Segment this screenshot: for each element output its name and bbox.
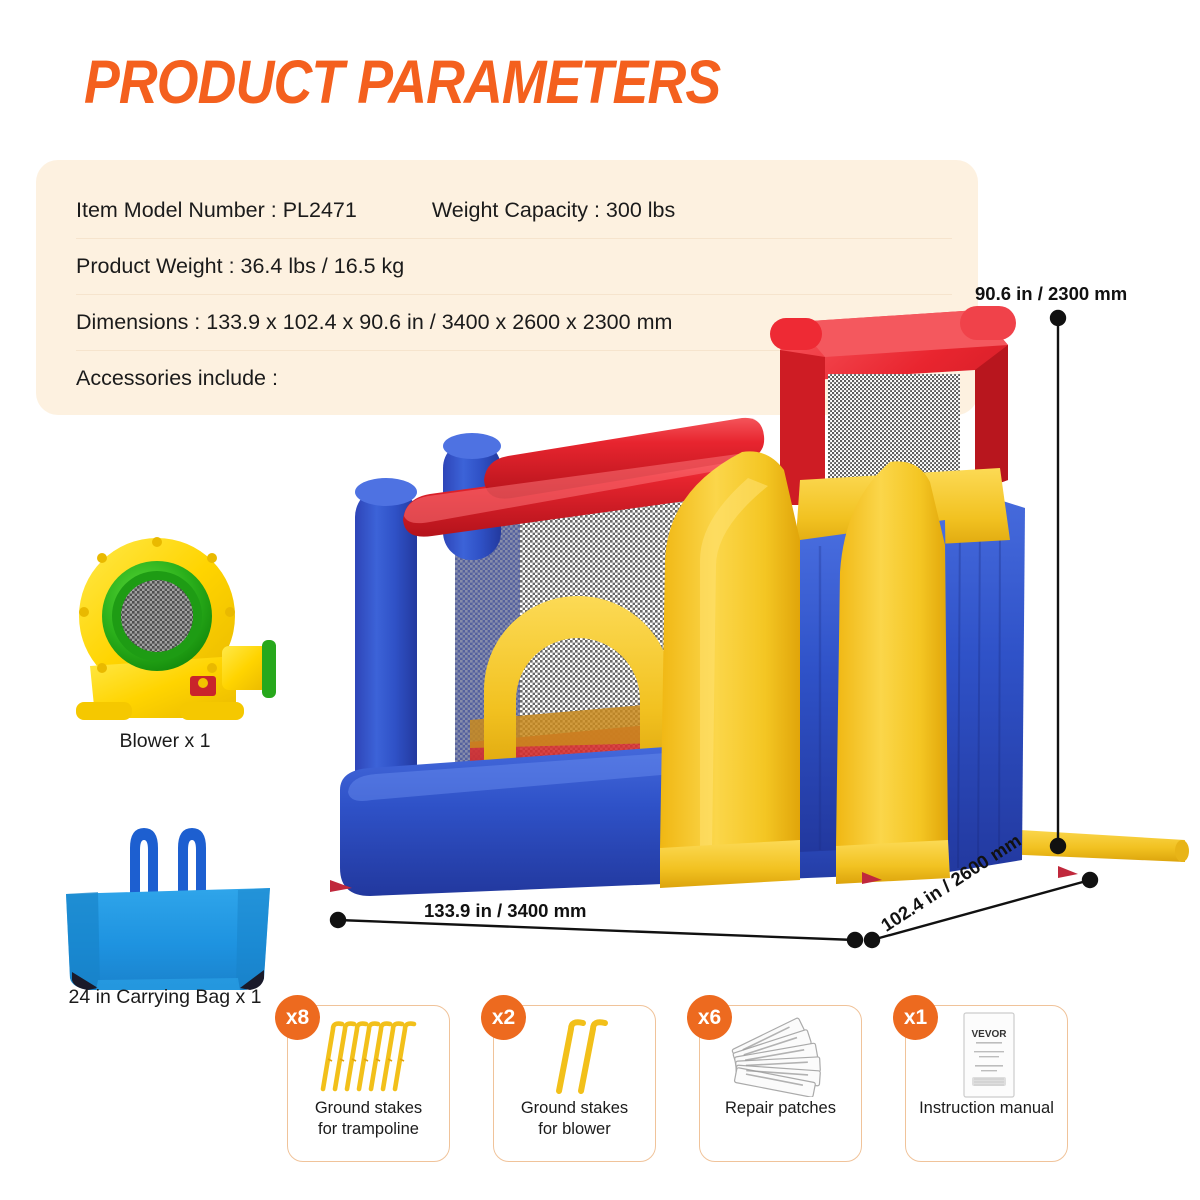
count-badge: x6 <box>687 995 732 1040</box>
manual-brand-text: VEVOR <box>971 1029 1007 1040</box>
accessory-caption-line1: Ground stakes <box>521 1098 628 1119</box>
accessories-include-text: Accessories include : <box>76 366 278 391</box>
spec-row: Product Weight : 36.4 lbs / 16.5 kg <box>76 238 952 294</box>
spec-panel: Item Model Number : PL2471 Weight Capaci… <box>36 160 978 415</box>
dimension-height-label: 90.6 in / 2300 mm <box>975 283 1127 305</box>
dimensions-text: Dimensions : 133.9 x 102.4 x 90.6 in / 3… <box>76 310 672 335</box>
accessory-caption-line1: Instruction manual <box>919 1098 1054 1119</box>
dimension-width-label: 133.9 in / 3400 mm <box>424 900 587 922</box>
accessory-card-list: x8 Ground stakes for trampoline <box>287 1005 1127 1165</box>
dimension-depth-label: 102.4 in / 2600 mm <box>877 829 1025 936</box>
accessory-card[interactable]: x8 Ground stakes for trampoline <box>287 1005 450 1162</box>
product-weight-text: Product Weight : 36.4 lbs / 16.5 kg <box>76 254 404 279</box>
accessory-caption-line1: Repair patches <box>725 1098 836 1119</box>
accessory-caption-line2: for trampoline <box>315 1119 422 1140</box>
accessory-caption: Repair patches <box>721 1098 840 1119</box>
accessory-caption: Ground stakes for trampoline <box>311 1098 426 1140</box>
blower-item: Blower x 1 <box>40 528 290 753</box>
count-badge: x2 <box>481 995 526 1040</box>
count-badge: x8 <box>275 995 320 1040</box>
weight-capacity-text: Weight Capacity : 300 lbs <box>432 198 675 223</box>
spec-row: Item Model Number : PL2471 Weight Capaci… <box>76 182 952 238</box>
spec-row: Dimensions : 133.9 x 102.4 x 90.6 in / 3… <box>76 294 952 350</box>
model-number-text: Item Model Number : PL2471 <box>76 198 357 223</box>
spec-row: Accessories include : <box>76 350 952 406</box>
count-badge: x1 <box>893 995 938 1040</box>
carrying-bag-caption: 24 in Carrying Bag x 1 <box>30 986 300 1009</box>
accessory-caption-line2: for blower <box>521 1119 628 1140</box>
blower-caption: Blower x 1 <box>40 730 290 753</box>
accessory-caption: Instruction manual <box>915 1098 1058 1119</box>
accessory-card[interactable]: x1 VEVOR Instruction manual <box>905 1005 1068 1162</box>
accessory-card[interactable]: x2 Ground stakes for blower <box>493 1005 656 1162</box>
page-title: PRODUCT PARAMETERS <box>84 52 720 113</box>
accessory-caption-line1: Ground stakes <box>315 1098 422 1119</box>
accessory-caption: Ground stakes for blower <box>517 1098 632 1140</box>
accessory-card[interactable]: x6 <box>699 1005 862 1162</box>
carrying-bag-item: 24 in Carrying Bag x 1 <box>30 812 300 1009</box>
